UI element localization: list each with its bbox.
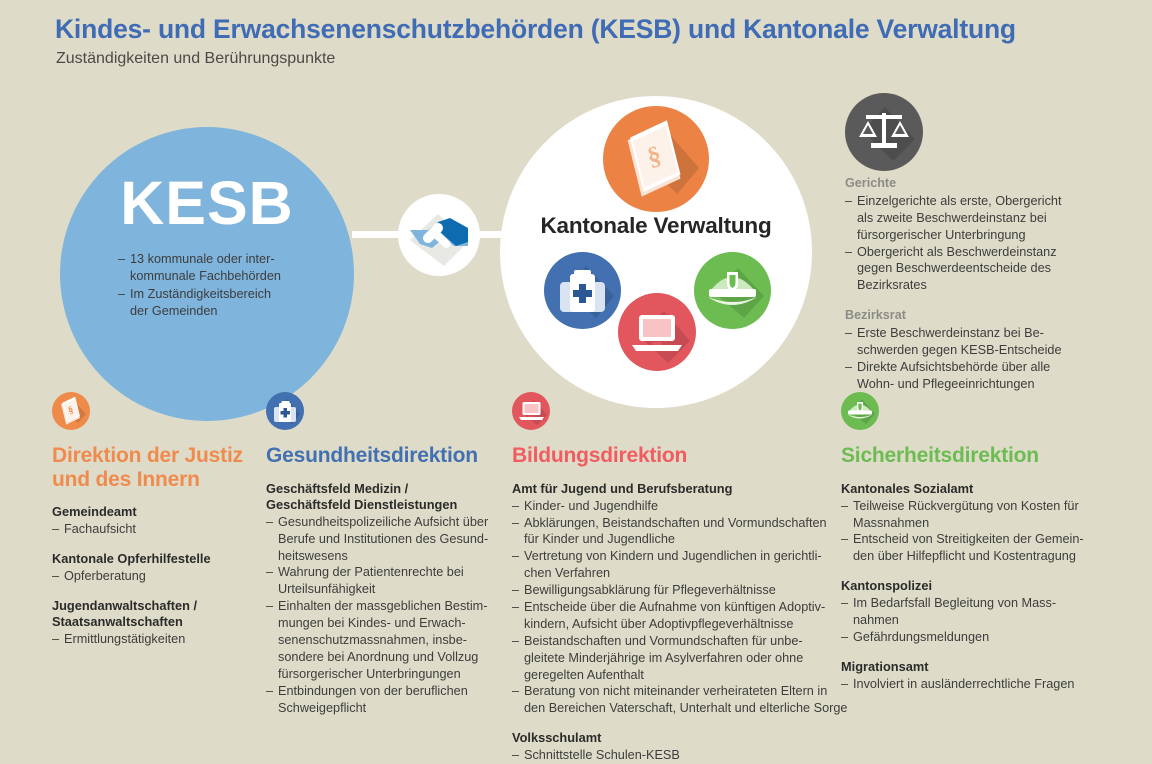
list-item: – Erste Beschwerdeinstanz bei Be- schwer… [845, 325, 1085, 359]
list-item: – Im Bedarfsfall Begleitung von Mass- na… [841, 595, 1091, 629]
bullet-list: – Ermittlungstätigkeiten [52, 631, 257, 648]
law-book-icon: § [52, 392, 90, 430]
list-item: – Einzelgerichte als erste, Obergericht … [845, 193, 1085, 244]
bullet-dash: – [266, 514, 278, 565]
section-kantonale-opferhilfestelle: Kantonale Opferhilfestelle – Opferberatu… [52, 551, 257, 585]
list-item: – Entbindungen von der beruflichen Schwe… [266, 683, 494, 717]
list-item: – Gesundheitspolizeiliche Aufsicht über … [266, 514, 494, 565]
list-item-text: Abklärungen, Beistandschaften und Vormun… [524, 515, 852, 549]
bullet-dash: – [512, 548, 524, 582]
list-item-text: Erste Beschwerdeinstanz bei Be- schwerde… [857, 325, 1085, 359]
bullet-dash: – [266, 683, 278, 717]
infographic-page: Kindes- und Erwachsenenschutzbehörden (K… [0, 0, 1152, 744]
list-item-text: Involviert in ausländerrechtliche Fragen [853, 676, 1091, 693]
kantonale-verwaltung-title: Kantonale Verwaltung [500, 213, 812, 239]
bullet-dash: – [118, 286, 130, 320]
section-heading: Migrationsamt [841, 659, 1091, 675]
bullet-dash: – [512, 633, 524, 684]
list-item-text: Entscheid von Streitigkeiten der Gemein-… [853, 531, 1091, 565]
list-item-text: Beratung von nicht miteinander verheirat… [524, 683, 852, 717]
bullet-dash: – [841, 498, 853, 532]
list-item: – Wahrung der Patientenrechte bei Urteil… [266, 564, 494, 598]
bullet-dash: – [512, 599, 524, 633]
bullet-list: – Involviert in ausländerrechtliche Frag… [841, 676, 1091, 693]
bullet-dash: – [52, 568, 64, 585]
section-kantonales-sozialamt: Kantonales Sozialamt – Teilweise Rückver… [841, 481, 1091, 566]
bullet-dash: – [841, 595, 853, 629]
bullet-list: – Teilweise Rückvergütung von Kosten für… [841, 498, 1091, 566]
list-item: – Im Zuständigkeitsbereich der Gemeinden [118, 286, 328, 320]
laptop-icon [512, 392, 550, 430]
section-migrationsamt: Migrationsamt – Involviert in ausländerr… [841, 659, 1091, 693]
section-gemeindeamt: Gemeindeamt – Fachaufsicht [52, 504, 257, 538]
medical-bag-icon [266, 392, 304, 430]
list-item-text: Direkte Aufsichtsbehörde über alle Wohn-… [857, 359, 1085, 393]
section-heading-bezirksrat: Bezirksrat [845, 308, 1085, 324]
bullet-dash: – [512, 683, 524, 717]
bullet-dash: – [266, 564, 278, 598]
list-item-text: Entscheide über die Aufnahme von künftig… [524, 599, 852, 633]
list-item-text: Obergericht als Beschwerdeinstanz gegen … [857, 244, 1085, 295]
bullet-dash: – [845, 325, 857, 359]
list-item: – Kinder- und Jugendhilfe [512, 498, 852, 515]
list-item: – Vertretung von Kindern und Jugendliche… [512, 548, 852, 582]
medical-bag-icon [544, 252, 621, 329]
bullet-list: – Kinder- und Jugendhilfe – Abklärungen,… [512, 498, 852, 718]
list-item-text: Bewilligungsabklärung für Pflegeverhältn… [524, 582, 852, 599]
list-item: – Involviert in ausländerrechtliche Frag… [841, 676, 1091, 693]
list-item-text: 13 kommunale oder inter- kommunale Fachb… [130, 251, 281, 285]
list-item-text: Ermittlungstätigkeiten [64, 631, 257, 648]
bullet-dash: – [845, 359, 857, 393]
list-item-text: Gesundheitspolizeiliche Aufsicht über Be… [278, 514, 494, 565]
bullet-dash: – [52, 521, 64, 538]
list-item-text: Fachaufsicht [64, 521, 257, 538]
list-item: – Direkte Aufsichtsbehörde über alle Woh… [845, 359, 1085, 393]
kantonale-verwaltung-circle: Kantonale Verwaltung § [500, 96, 812, 408]
bullet-dash: – [512, 498, 524, 515]
law-book-icon: § [603, 106, 709, 212]
section-heading: Kantonspolizei [841, 578, 1091, 594]
list-item: – Einhalten der massgeblichen Bestim- mu… [266, 598, 494, 682]
list-item-text: Wahrung der Patientenrechte bei Urteilsu… [278, 564, 494, 598]
list-item-text: Im Zuständigkeitsbereich der Gemeinden [130, 286, 271, 320]
list-item-text: Im Bedarfsfall Begleitung von Mass- nahm… [853, 595, 1091, 629]
list-item: – Ermittlungstätigkeiten [52, 631, 257, 648]
bullet-dash: – [52, 631, 64, 648]
kesb-circle: KESB – 13 kommunale oder inter- kommunal… [60, 127, 354, 421]
bullet-dash: – [841, 531, 853, 565]
list-item-text: Einhalten der massgeblichen Bestim- mung… [278, 598, 494, 682]
list-item-text: Opferberatung [64, 568, 257, 585]
column-title: Sicherheitsdirektion [841, 444, 1091, 468]
section-heading: Amt für Jugend und Berufsberatung [512, 481, 852, 497]
list-item-text: Vertretung von Kindern und Jugendlichen … [524, 548, 852, 582]
column-title: Bildungsdirektion [512, 444, 852, 468]
bullet-list: – Im Bedarfsfall Begleitung von Mass- na… [841, 595, 1091, 646]
bullet-list: – Schnittstelle Schulen-KESB [512, 747, 852, 764]
list-item: – Teilweise Rückvergütung von Kosten für… [841, 498, 1091, 532]
column-direktion-der-justiz: § Direktion der Justiz und des Innern Ge… [52, 392, 257, 648]
list-item-text: Teilweise Rückvergütung von Kosten für M… [853, 498, 1091, 532]
bullet-list: – Fachaufsicht [52, 521, 257, 538]
bullet-dash: – [841, 676, 853, 693]
column-gesundheitsdirektion: Gesundheitsdirektion Geschäftsfeld Mediz… [266, 392, 494, 716]
list-item: – Obergericht als Beschwerdeinstanz gege… [845, 244, 1085, 295]
bullet-list-bezirksrat: – Erste Beschwerdeinstanz bei Be- schwer… [845, 325, 1085, 393]
list-item: – Fachaufsicht [52, 521, 257, 538]
column-title: Direktion der Justiz und des Innern [52, 444, 257, 491]
list-item-text: Entbindungen von der beruflichen Schweig… [278, 683, 494, 717]
list-item: – Bewilligungsabklärung für Pflegeverhäl… [512, 582, 852, 599]
section-heading: Jugendanwaltschaften / Staatsanwaltschaf… [52, 598, 257, 630]
column-title: Gesundheitsdirektion [266, 444, 494, 468]
bullet-list-gerichte: – Einzelgerichte als erste, Obergericht … [845, 193, 1085, 294]
page-subtitle: Zuständigkeiten und Berührungspunkte [56, 50, 335, 68]
bullet-dash: – [845, 193, 857, 244]
kesb-bullet-list: – 13 kommunale oder inter- kommunale Fac… [118, 251, 328, 321]
bullet-list: – Opferberatung [52, 568, 257, 585]
column-sicherheitsdirektion: Sicherheitsdirektion Kantonales Sozialam… [841, 392, 1091, 693]
list-item: – 13 kommunale oder inter- kommunale Fac… [118, 251, 328, 285]
bullet-dash: – [841, 629, 853, 646]
list-item-text: Einzelgerichte als erste, Obergericht al… [857, 193, 1085, 244]
list-item: – Abklärungen, Beistandschaften und Vorm… [512, 515, 852, 549]
list-item: – Entscheid von Streitigkeiten der Gemei… [841, 531, 1091, 565]
list-item-text: Schnittstelle Schulen-KESB [524, 747, 852, 764]
list-item: – Gefährdungsmeldungen [841, 629, 1091, 646]
column-bildungsdirektion: Bildungsdirektion Amt für Jugend und Ber… [512, 392, 852, 764]
bullet-dash: – [512, 582, 524, 599]
page-title: Kindes- und Erwachsenenschutzbehörden (K… [55, 14, 1016, 45]
kesb-label: KESB [60, 173, 354, 234]
list-item: – Schnittstelle Schulen-KESB [512, 747, 852, 764]
bullet-dash: – [512, 515, 524, 549]
gerichte-bezirksrat-block: Gerichte – Einzelgerichte als erste, Obe… [845, 176, 1085, 393]
section-kantonspolizei: Kantonspolizei – Im Bedarfsfall Begleitu… [841, 578, 1091, 646]
section-jugendanwaltschaften: Jugendanwaltschaften / Staatsanwaltschaf… [52, 598, 257, 648]
bullet-dash: – [845, 244, 857, 295]
police-cap-icon [841, 392, 879, 430]
section-heading: Gemeindeamt [52, 504, 257, 520]
list-item-text: Kinder- und Jugendhilfe [524, 498, 852, 515]
section-amt-fuer-jugend: Amt für Jugend und Berufsberatung – Kind… [512, 481, 852, 718]
bullet-dash: – [118, 251, 130, 285]
section-heading: Geschäftsfeld Medizin / Geschäftsfeld Di… [266, 481, 494, 513]
bullet-list: – Gesundheitspolizeiliche Aufsicht über … [266, 514, 494, 717]
section-volksschulamt: Volksschulamt – Schnittstelle Schulen-KE… [512, 730, 852, 764]
section-heading: Kantonales Sozialamt [841, 481, 1091, 497]
list-item-text: Gefährdungsmeldungen [853, 629, 1091, 646]
list-item: – Entscheide über die Aufnahme von künft… [512, 599, 852, 633]
list-item: – Beistandschaften und Vormundschaften f… [512, 633, 852, 684]
handshake-icon [398, 194, 480, 276]
list-item: – Opferberatung [52, 568, 257, 585]
scales-of-justice-icon [845, 93, 923, 171]
list-item-text: Beistandschaften und Vormundschaften für… [524, 633, 852, 684]
section-geschaeftsfeld: Geschäftsfeld Medizin / Geschäftsfeld Di… [266, 481, 494, 717]
section-heading: Kantonale Opferhilfestelle [52, 551, 257, 567]
section-heading-gerichte: Gerichte [845, 176, 1085, 192]
police-cap-icon [694, 252, 771, 329]
bullet-dash: – [266, 598, 278, 682]
bullet-dash: – [512, 747, 524, 764]
laptop-icon [618, 293, 696, 371]
list-item: – Beratung von nicht miteinander verheir… [512, 683, 852, 717]
